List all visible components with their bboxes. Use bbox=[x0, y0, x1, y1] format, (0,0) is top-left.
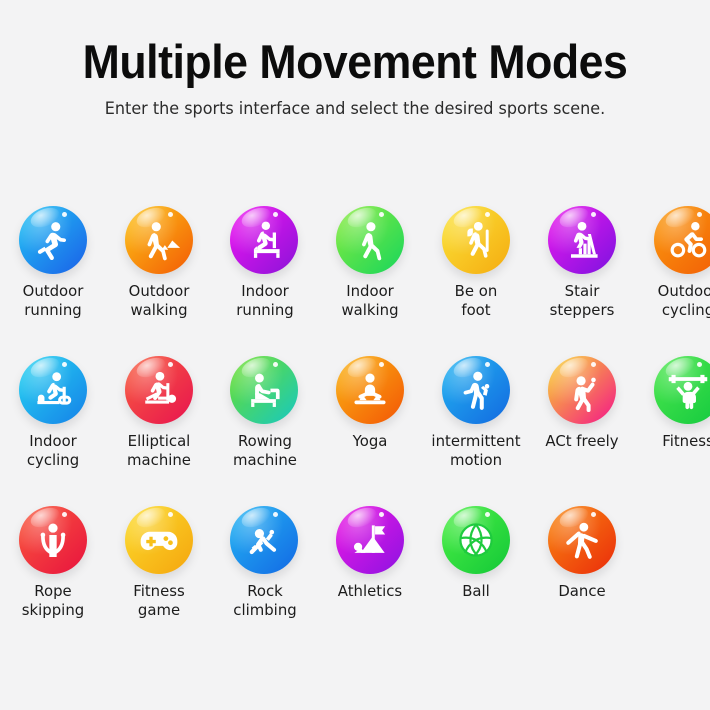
sports-mode-label: Outdoor running bbox=[0, 282, 110, 320]
sports-mode-label: Outdoor cycling bbox=[631, 282, 710, 320]
sports-mode-indoor-cycling[interactable]: Indoor cycling bbox=[0, 356, 106, 506]
sports-mode-label: Fitness game bbox=[102, 582, 215, 620]
stair-stepper-icon[interactable] bbox=[548, 206, 616, 274]
page-subtitle: Enter the sports interface and select th… bbox=[11, 98, 700, 120]
sports-mode-label: ACt freely bbox=[525, 432, 638, 451]
sports-mode-outdoor-cycling[interactable]: Outdoor cycling bbox=[635, 206, 710, 356]
sports-mode-label: Rowing machine bbox=[208, 432, 321, 470]
sports-mode-label: Rock climbing bbox=[208, 582, 321, 620]
sports-mode-elliptical-machine[interactable]: Elliptical machine bbox=[106, 356, 212, 506]
elliptical-icon[interactable] bbox=[125, 356, 193, 424]
sports-mode-yoga[interactable]: Yoga bbox=[317, 356, 423, 506]
sports-mode-label: Athletics bbox=[314, 582, 427, 601]
free-movement-icon[interactable] bbox=[548, 356, 616, 424]
sports-mode-label: Outdoor walking bbox=[102, 282, 215, 320]
rowing-machine-icon[interactable] bbox=[230, 356, 298, 424]
sports-mode-fitness-game[interactable]: Fitness game bbox=[106, 506, 212, 656]
sports-mode-outdoor-running[interactable]: Outdoor running bbox=[0, 206, 106, 356]
treadmill-icon[interactable] bbox=[230, 206, 298, 274]
sports-mode-row: Outdoor runningOutdoor walkingIndoor run… bbox=[0, 206, 710, 356]
sports-mode-label: Stair steppers bbox=[525, 282, 638, 320]
sports-mode-label: Fitness bbox=[631, 432, 710, 451]
sports-mode-stair-steppers[interactable]: Stair steppers bbox=[529, 206, 635, 356]
sports-mode-dance[interactable]: Dance bbox=[529, 506, 635, 656]
sports-mode-grid: Outdoor runningOutdoor walkingIndoor run… bbox=[0, 206, 710, 656]
athletics-flag-icon[interactable] bbox=[336, 506, 404, 574]
sports-mode-rowing-machine[interactable]: Rowing machine bbox=[212, 356, 318, 506]
sports-mode-row: Rope skippingFitness gameRock climbingAt… bbox=[0, 506, 710, 656]
sports-mode-label: Indoor running bbox=[208, 282, 321, 320]
sports-mode-outdoor-walking[interactable]: Outdoor walking bbox=[106, 206, 212, 356]
sports-mode-indoor-running[interactable]: Indoor running bbox=[212, 206, 318, 356]
sports-mode-label: Be on foot bbox=[419, 282, 532, 320]
page-header: Multiple Movement Modes Enter the sports… bbox=[0, 0, 710, 120]
sports-mode-athletics[interactable]: Athletics bbox=[317, 506, 423, 656]
yoga-icon[interactable] bbox=[336, 356, 404, 424]
sports-modes-page: Multiple Movement Modes Enter the sports… bbox=[0, 0, 710, 710]
walker-mountain-icon[interactable] bbox=[125, 206, 193, 274]
cyclist-icon[interactable] bbox=[654, 206, 710, 274]
sports-mode-label: Rope skipping bbox=[0, 582, 110, 620]
weightlifting-icon[interactable] bbox=[654, 356, 710, 424]
sports-mode-label: Indoor walking bbox=[314, 282, 427, 320]
sports-mode-rope-skipping[interactable]: Rope skipping bbox=[0, 506, 106, 656]
page-title: Multiple Movement Modes bbox=[18, 34, 693, 90]
sports-mode-label: Ball bbox=[419, 582, 532, 601]
interval-training-icon[interactable] bbox=[442, 356, 510, 424]
sports-mode-label: Indoor cycling bbox=[0, 432, 110, 470]
volleyball-icon[interactable] bbox=[442, 506, 510, 574]
sports-mode-rock-climbing[interactable]: Rock climbing bbox=[212, 506, 318, 656]
sports-mode-indoor-walking[interactable]: Indoor walking bbox=[317, 206, 423, 356]
sports-mode-act-freely[interactable]: ACt freely bbox=[529, 356, 635, 506]
sports-mode-intermittent-motion[interactable]: intermittent motion bbox=[423, 356, 529, 506]
sports-mode-label: Elliptical machine bbox=[102, 432, 215, 470]
jump-rope-icon[interactable] bbox=[19, 506, 87, 574]
climber-icon[interactable] bbox=[230, 506, 298, 574]
sports-mode-label: Yoga bbox=[314, 432, 427, 451]
runner-icon[interactable] bbox=[19, 206, 87, 274]
dancer-icon[interactable] bbox=[548, 506, 616, 574]
sports-mode-label: Dance bbox=[525, 582, 638, 601]
gamepad-icon[interactable] bbox=[125, 506, 193, 574]
exercise-bike-icon[interactable] bbox=[19, 356, 87, 424]
sports-mode-be-on-foot[interactable]: Be on foot bbox=[423, 206, 529, 356]
sports-mode-label: intermittent motion bbox=[419, 432, 532, 470]
hiker-icon[interactable] bbox=[442, 206, 510, 274]
walking-person-icon[interactable] bbox=[336, 206, 404, 274]
sports-mode-fitness[interactable]: Fitness bbox=[635, 356, 710, 506]
sports-mode-ball[interactable]: Ball bbox=[423, 506, 529, 656]
sports-mode-row: Indoor cyclingElliptical machineRowing m… bbox=[0, 356, 710, 506]
